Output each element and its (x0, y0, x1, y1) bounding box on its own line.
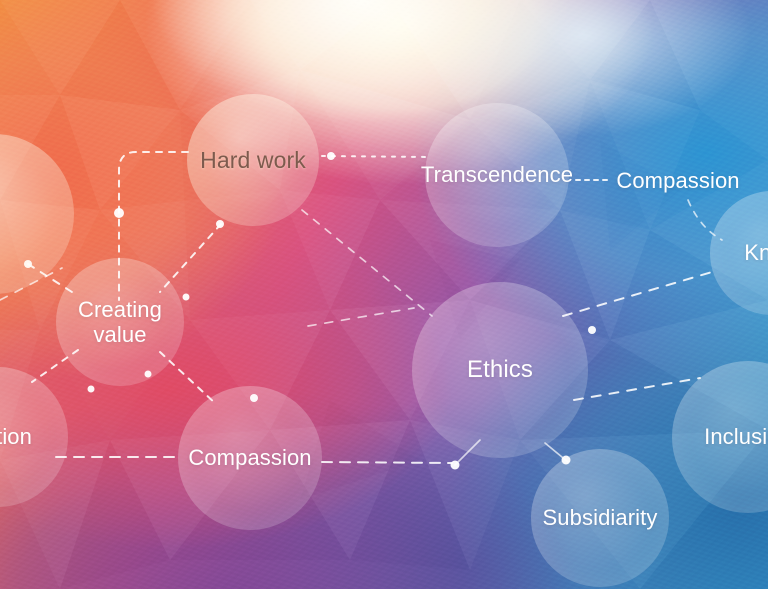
link-hardwork-transcendence (322, 156, 430, 157)
junction-dot (88, 386, 95, 393)
link-compassionbottom-ethics (322, 462, 452, 463)
junction-dot (183, 294, 190, 301)
link-ethics-inclusion (574, 378, 700, 400)
junction-dot (114, 208, 124, 218)
node-bubble-ethics[interactable] (412, 282, 588, 458)
junction-dot (327, 152, 335, 160)
node-bubble-subsidiarity[interactable] (531, 449, 669, 587)
junction-dot (216, 220, 224, 228)
node-bubble-hard-work[interactable] (187, 94, 319, 226)
junction-dot (451, 461, 460, 470)
link-ethics-knowledge (563, 272, 712, 316)
values-network-diagram: Hard workTranscendenceCompassionKnowCrea… (0, 0, 768, 589)
link-hardwork-ethics (302, 210, 432, 316)
link-creatingvalue-ethics (308, 308, 414, 326)
junction-dot (588, 326, 596, 334)
node-bubble-transcendence[interactable] (425, 103, 569, 247)
node-bubble-creating-value[interactable] (56, 258, 184, 386)
node-bubble-compassion-bottom[interactable] (178, 386, 322, 530)
